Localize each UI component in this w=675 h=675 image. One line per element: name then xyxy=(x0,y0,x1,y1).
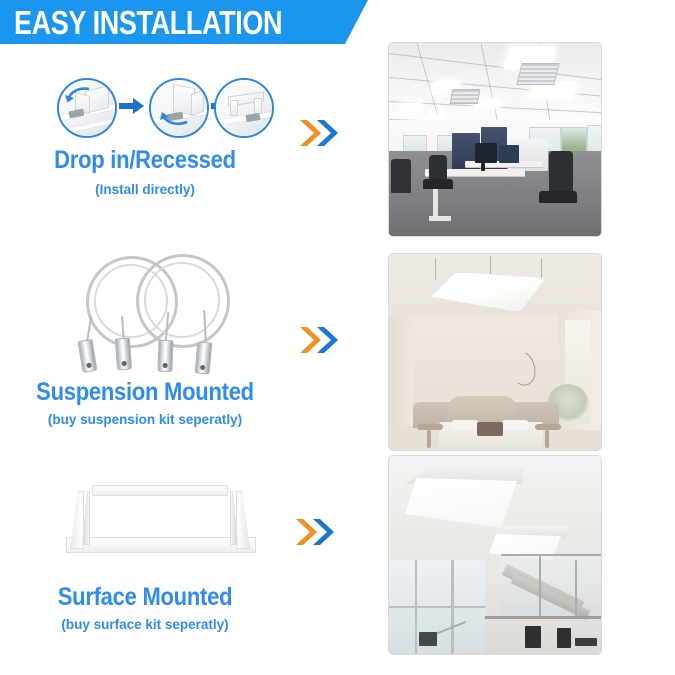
install-step-3-icon xyxy=(214,78,274,138)
row3-title: Surface Mounted xyxy=(17,583,272,612)
rotate-arrow-icon xyxy=(151,80,207,136)
double-chevron-right-icon xyxy=(298,118,342,148)
surface-mounted-ceiling-photo xyxy=(388,455,602,655)
suspension-cable-kit-illustration xyxy=(70,254,245,374)
double-chevron-right-icon xyxy=(298,325,342,355)
row2-subtitle: (buy suspension kit seperatly) xyxy=(0,412,290,427)
row1-subtitle: (Install directly) xyxy=(0,182,290,197)
bedroom-suspended-panel-photo xyxy=(388,253,602,451)
surface-mount-frame-kit-illustration xyxy=(60,461,260,566)
row2-left-column: Suspension Mounted (buy suspension kit s… xyxy=(0,250,290,455)
row-suspension-mounted: Suspension Mounted (buy suspension kit s… xyxy=(0,250,675,455)
install-step-2-icon xyxy=(149,78,209,138)
install-step-1-icon xyxy=(57,78,117,138)
double-chevron-right-icon xyxy=(294,517,338,547)
row1-left-column: Drop in/Recessed (Install directly) xyxy=(0,50,290,245)
page-title: EASY INSTALLATION xyxy=(14,2,282,44)
row2-title: Suspension Mounted xyxy=(17,378,272,407)
rotate-arrow-icon xyxy=(59,80,115,136)
row3-left-column: Surface Mounted (buy surface kit seperat… xyxy=(0,455,290,660)
easy-installation-infographic: EASY INSTALLATION xyxy=(0,0,675,675)
row1-title: Drop in/Recessed xyxy=(17,146,272,175)
arrow-right-icon xyxy=(119,97,145,115)
row-surface-mounted: Surface Mounted (buy surface kit seperat… xyxy=(0,455,675,660)
office-recessed-ceiling-photo xyxy=(388,42,602,237)
row3-subtitle: (buy surface kit seperatly) xyxy=(0,617,290,632)
row-drop-in-recessed: Drop in/Recessed (Install directly) xyxy=(0,50,675,245)
